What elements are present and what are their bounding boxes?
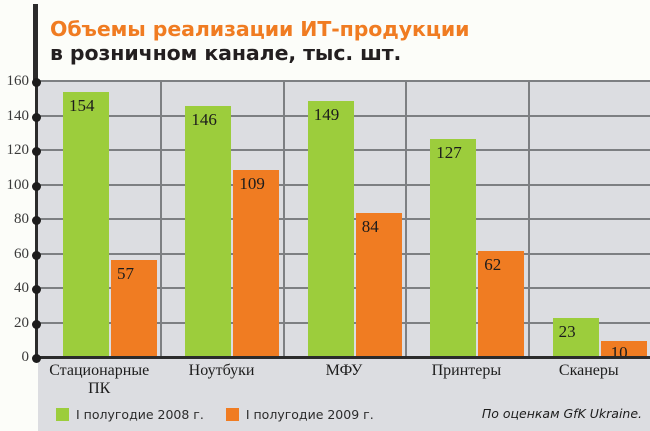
y-axis-tick-dot <box>32 182 41 191</box>
category-axis-labels: СтационарныеПКНоутбукиМФУПринтерыСканеры <box>38 359 650 399</box>
bar-value-label: 127 <box>436 143 462 163</box>
category-label-line: Сканеры <box>528 362 650 380</box>
category-label: СтационарныеПК <box>38 362 160 398</box>
category-label: Сканеры <box>528 362 650 380</box>
bar[interactable] <box>185 106 231 358</box>
category-label-line: МФУ <box>283 362 405 380</box>
y-axis-tick-dot <box>32 251 41 260</box>
y-axis-tick-label: 40 <box>0 280 29 297</box>
y-axis-tick-dot <box>32 285 41 294</box>
gridline-vertical <box>283 82 285 358</box>
bar-value-label: 154 <box>69 96 95 116</box>
gridline-vertical <box>160 82 162 358</box>
category-label-line: ПК <box>38 380 160 398</box>
gridline-vertical <box>528 82 530 358</box>
y-axis-tick-dot <box>32 147 41 156</box>
source-note: По оценкам GfK Ukraine. <box>482 406 642 421</box>
category-label: Ноутбуки <box>160 362 282 380</box>
legend-swatch-icon <box>56 408 69 421</box>
legend-label: I полугодие 2009 г. <box>246 407 374 422</box>
y-axis-tick-label: 0 <box>0 349 29 366</box>
category-label: Принтеры <box>405 362 527 380</box>
category-label: МФУ <box>283 362 405 380</box>
chart-title: Объемы реализации ИТ-продукции в розничн… <box>38 0 638 82</box>
y-axis-tick-dot <box>32 320 41 329</box>
chart-legend: I полугодие 2008 г. I полугодие 2009 г. … <box>38 402 650 426</box>
legend-swatch-icon <box>226 408 239 421</box>
bar-value-label: 146 <box>191 110 217 130</box>
gridline-vertical <box>405 82 407 358</box>
y-axis-tick-label: 120 <box>0 142 29 159</box>
y-axis-tick-label: 160 <box>0 73 29 90</box>
category-label-line: Стационарные <box>38 362 160 380</box>
y-axis-tick-label: 80 <box>0 211 29 228</box>
bar[interactable] <box>308 101 354 358</box>
bar[interactable] <box>430 139 476 358</box>
gridline-horizontal <box>38 80 650 82</box>
category-label-line: Принтеры <box>405 362 527 380</box>
legend-label: I полугодие 2008 г. <box>76 407 204 422</box>
chart-title-line1: Объемы реализации ИТ-продукции <box>50 17 638 41</box>
bar-value-label: 57 <box>117 264 134 284</box>
bar-value-label: 149 <box>314 105 340 125</box>
y-axis-tick-dot <box>32 113 41 122</box>
y-axis-tick-dot <box>32 216 41 225</box>
y-axis-tick-label: 100 <box>0 177 29 194</box>
bar-value-label: 84 <box>362 217 379 237</box>
legend-item[interactable]: I полугодие 2008 г. <box>56 407 204 422</box>
category-label-line: Ноутбуки <box>160 362 282 380</box>
y-axis-tick-label: 140 <box>0 108 29 125</box>
y-axis-tick-label: 20 <box>0 315 29 332</box>
bar[interactable] <box>233 170 279 358</box>
chart-figure: Объемы реализации ИТ-продукции в розничн… <box>0 0 650 431</box>
chart-title-line2: в розничном канале, тыс. шт. <box>50 41 638 65</box>
bar-value-label: 23 <box>559 322 576 342</box>
y-axis-tick-label: 60 <box>0 246 29 263</box>
y-axis-tick-dot <box>32 78 41 87</box>
bar[interactable] <box>63 92 109 358</box>
bar-value-label: 109 <box>239 174 265 194</box>
bar-value-label: 62 <box>484 255 501 275</box>
plot-area: 1545714610914984127622310 <box>38 82 650 358</box>
legend-item[interactable]: I полугодие 2009 г. <box>226 407 374 422</box>
